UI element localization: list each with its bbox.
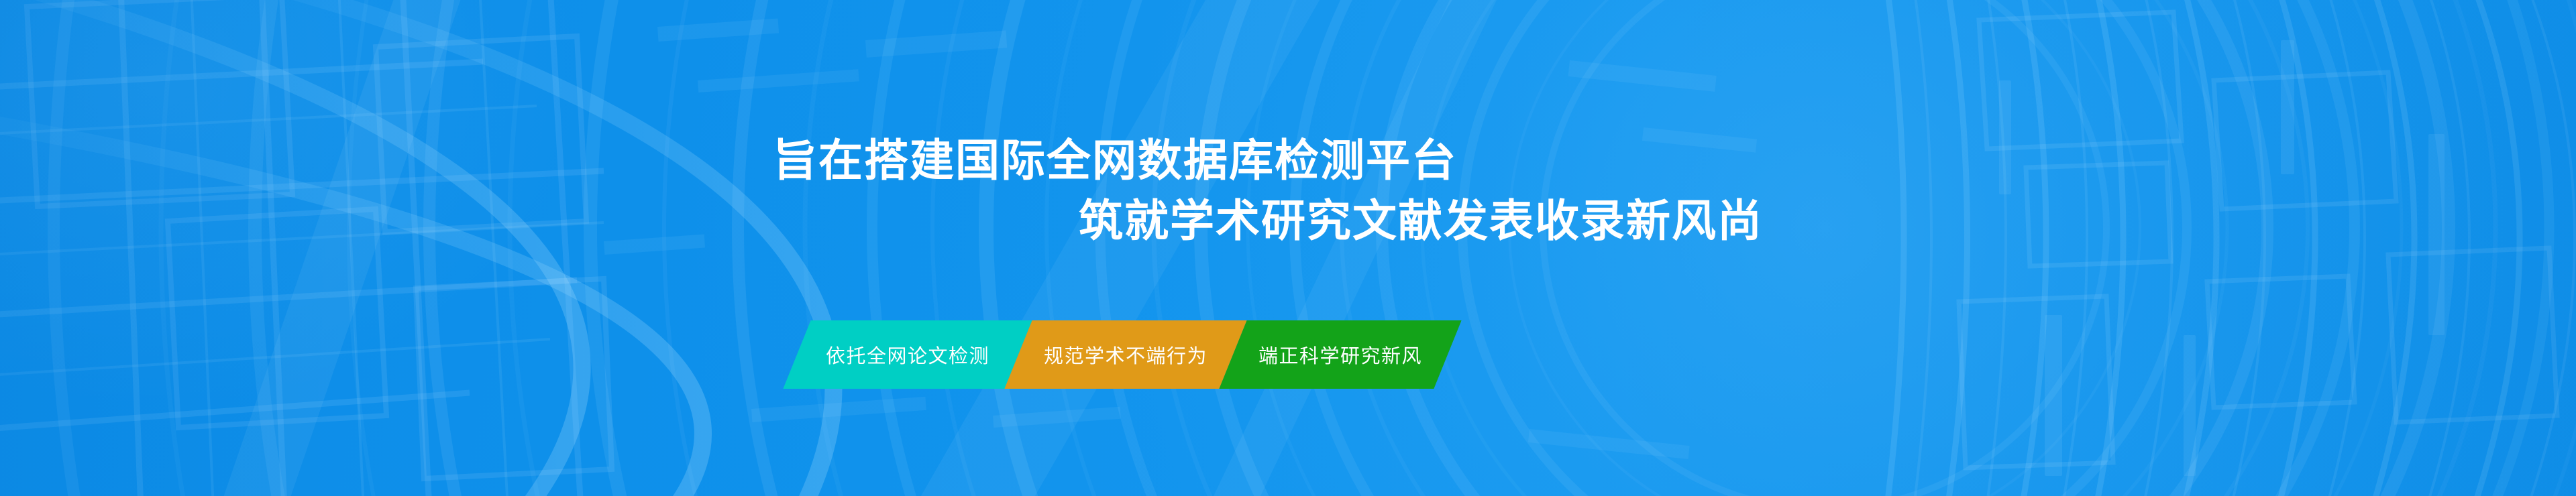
hero-banner: 旨在搭建国际全网数据库检测平台 筑就学术研究文献发表收录新风尚 依托全网论文检测… [0, 0, 2576, 496]
headline-line-2: 筑就学术研究文献发表收录新风尚 [1079, 194, 1763, 248]
headline-block: 旨在搭建国际全网数据库检测平台 筑就学术研究文献发表收录新风尚 [0, 0, 2576, 496]
feature-tag-1[interactable]: 依托全网论文检测 [797, 320, 1018, 389]
feature-tag-2[interactable]: 规范学术不端行为 [1018, 320, 1233, 389]
feature-tag-3[interactable]: 端正科学研究新风 [1233, 320, 1448, 389]
feature-tag-1-label: 依托全网论文检测 [826, 340, 989, 369]
feature-tag-2-label: 规范学术不端行为 [1044, 340, 1207, 369]
feature-tag-3-label: 端正科学研究新风 [1258, 340, 1422, 369]
headline-line-1: 旨在搭建国际全网数据库检测平台 [773, 134, 1457, 188]
feature-tag-band: 依托全网论文检测 规范学术不端行为 端正科学研究新风 [782, 320, 1462, 389]
